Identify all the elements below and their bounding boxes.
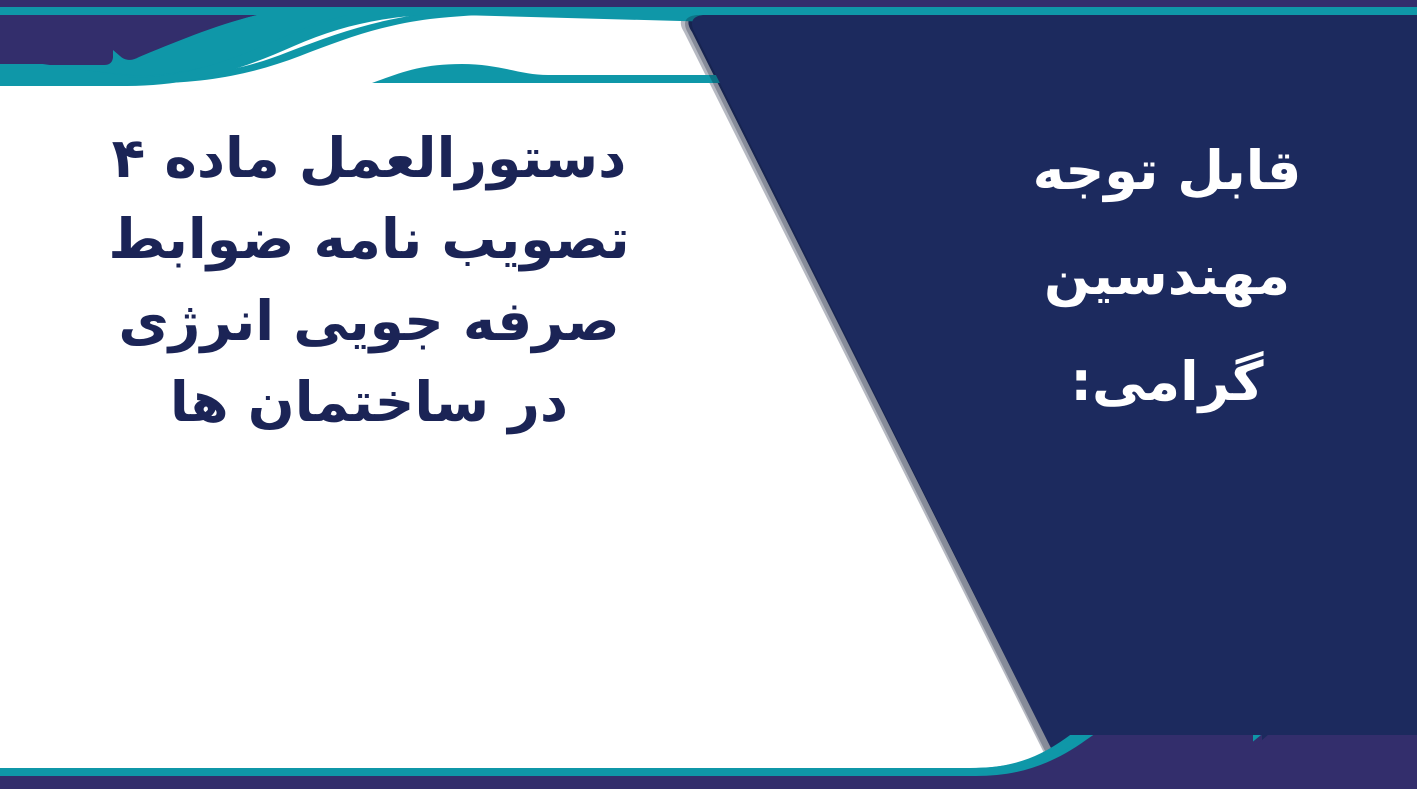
document-title-line-4: در ساختمان ها [39,362,699,443]
audience-notice-line-3: گرامی: [947,329,1387,434]
document-title-line-1: دستورالعمل ماده ۴ [39,118,699,199]
text-content-layer: دستورالعمل ماده ۴ تصویب نامه ضوابط صرفه … [0,0,1417,789]
poster-canvas: دستورالعمل ماده ۴ تصویب نامه ضوابط صرفه … [0,0,1417,789]
audience-notice-line-1: قابل توجه [947,118,1387,223]
audience-notice-line-2: مهندسین [947,223,1387,328]
document-title-line-3: صرفه جویی انرژی [39,281,699,362]
document-title-block: دستورالعمل ماده ۴ تصویب نامه ضوابط صرفه … [39,118,699,444]
document-title-line-2: تصویب نامه ضوابط [39,199,699,280]
audience-notice-block: قابل توجه مهندسین گرامی: [947,118,1387,434]
